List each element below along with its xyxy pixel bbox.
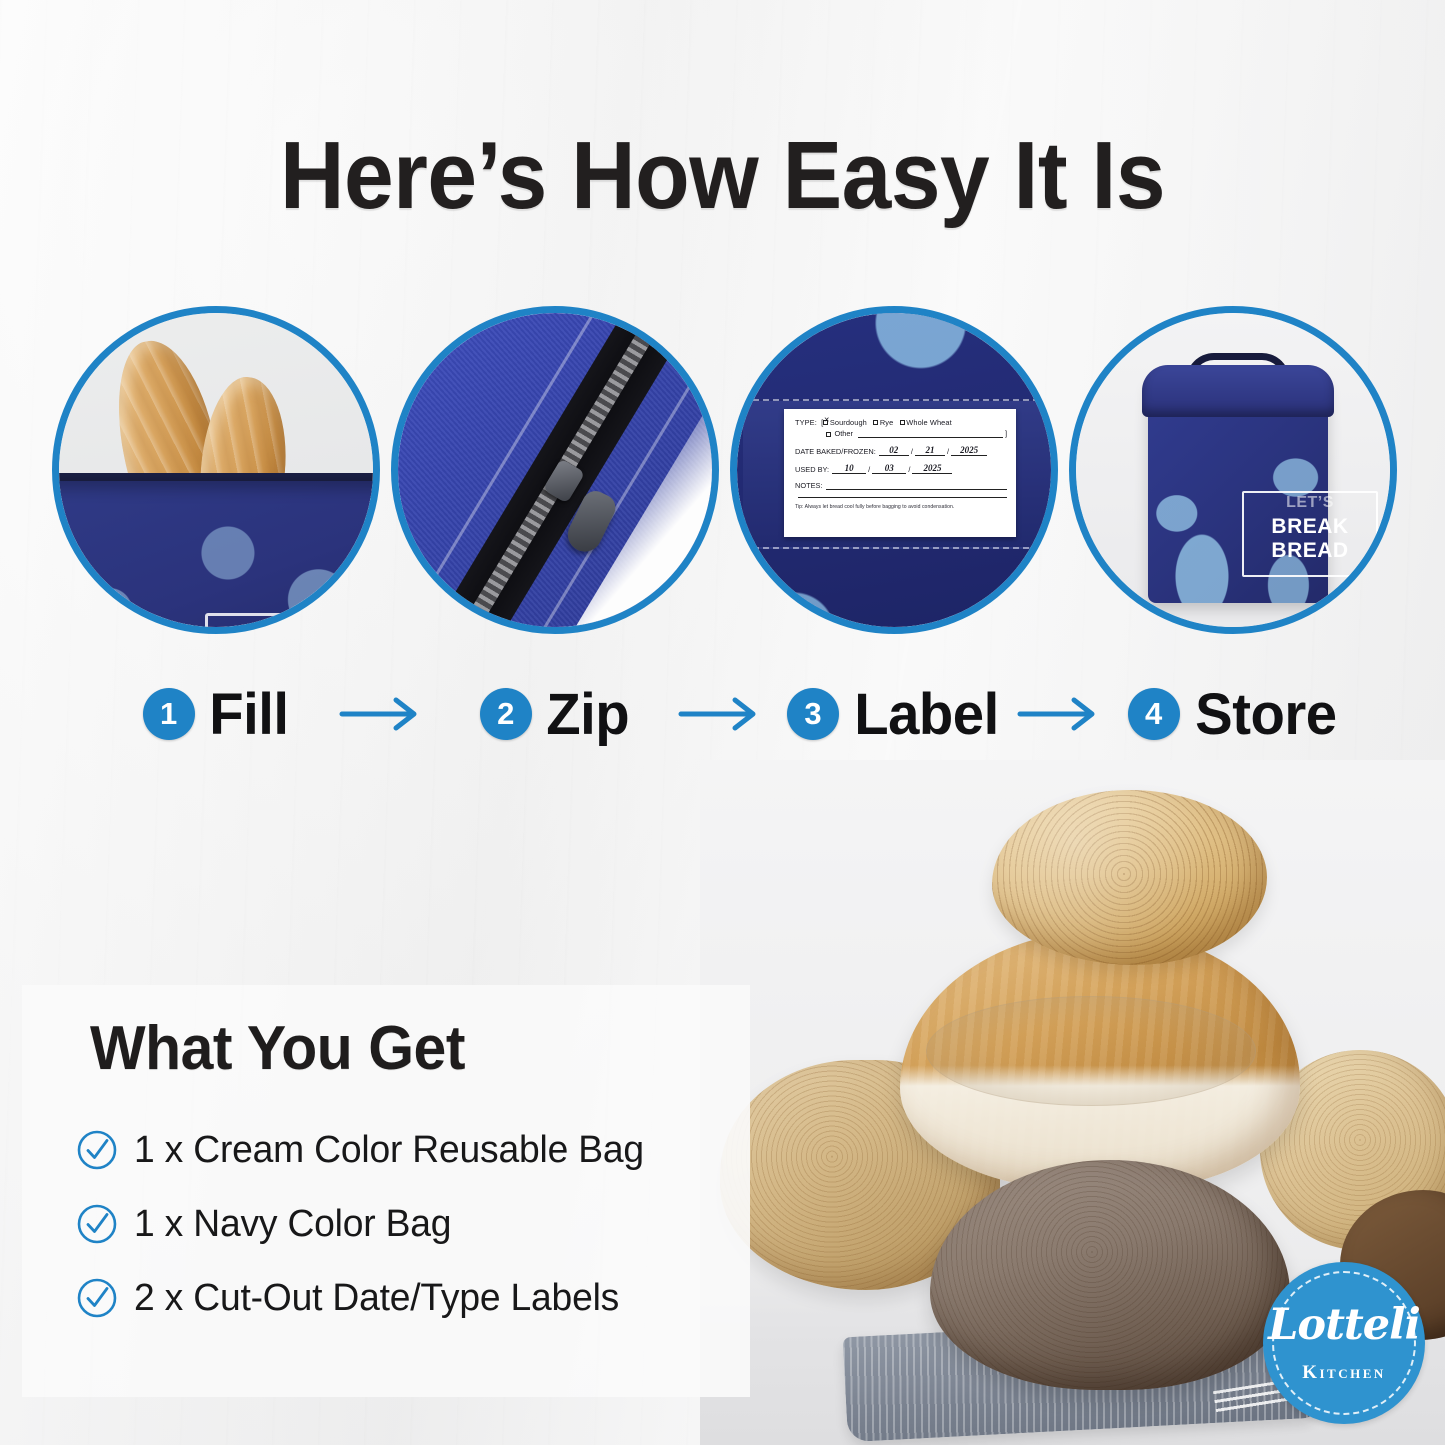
logo-brand-name: Lotteli — [1263, 1300, 1425, 1350]
step-word-zip: Zip — [546, 681, 629, 748]
notes-blank-line — [826, 489, 1007, 490]
list-item-label: 2 x Cut-Out Date/Type Labels — [134, 1277, 619, 1320]
list-item: 1 x Navy Color Bag — [76, 1187, 736, 1261]
loaf-sesame-roll — [992, 790, 1267, 965]
page-title: Here’s How Easy It Is — [51, 128, 1395, 224]
check-circle-icon — [76, 1203, 118, 1245]
used-by-year: 2025 — [912, 463, 952, 474]
list-item: 2 x Cut-Out Date/Type Labels — [76, 1261, 736, 1335]
bag-print-line1: LET’S — [1244, 494, 1376, 512]
step-label-store: 4 Store — [1069, 681, 1397, 748]
date-baked-month: 02 — [879, 445, 909, 456]
label-notes-row-2 — [795, 497, 1007, 498]
step-badge-3: 3 — [787, 688, 839, 740]
list-item-label: 1 x Navy Color Bag — [134, 1203, 451, 1246]
check-circle-icon — [76, 1129, 118, 1171]
other-blank-line — [858, 437, 1003, 438]
arrow-right-icon — [1058, 694, 1069, 734]
label-date-baked-row: DATE BAKED/FROZEN: 02 / 21 / 2025 — [795, 445, 1007, 456]
type-option-rye: Rye — [880, 418, 893, 427]
step-word-label: Label — [854, 681, 999, 748]
label-card-icon: TYPE: [Sourdough Rye Whole Wheat Other ]… — [737, 313, 1051, 627]
step-photo-zip — [391, 306, 719, 634]
type-option-sourdough: Sourdough — [830, 418, 867, 427]
notes-label: NOTES: — [795, 481, 823, 490]
step-photo-store: LET’S BREAK BREAD — [1069, 306, 1397, 634]
bag-rolled-top — [1142, 365, 1334, 417]
type-option-other: Other — [835, 429, 853, 438]
step-photo-fill — [52, 306, 380, 634]
bag-print-frame — [205, 613, 333, 627]
list-item-label: 1 x Cream Color Reusable Bag — [134, 1129, 644, 1172]
arrow-right-icon — [380, 694, 391, 734]
rolled-bag-icon: LET’S BREAK BREAD — [1076, 313, 1390, 627]
date-baked-day: 21 — [915, 445, 945, 456]
date-baked-year: 2025 — [951, 445, 987, 456]
label-tip-text: Tip: Always let bread cool fully before … — [795, 504, 1007, 510]
step-word-store: Store — [1195, 681, 1336, 748]
step-badge-1: 1 — [143, 688, 195, 740]
steps-label-row: 1 Fill 2 Zip 3 Label 4 Store — [52, 668, 1397, 760]
logo-subtitle: Kitchen — [1263, 1362, 1425, 1384]
step-label-zip: 2 Zip — [391, 681, 719, 748]
label-notes-row: NOTES: — [795, 481, 1007, 490]
checkbox-whole-wheat — [900, 420, 905, 425]
label-used-by-row: USED BY: 10 / 03 / 2025 — [795, 463, 1007, 474]
label-type-row: TYPE: [Sourdough Rye Whole Wheat — [795, 418, 1007, 428]
check-circle-icon — [76, 1277, 118, 1319]
arrow-right-icon — [719, 694, 730, 734]
steps-photo-row: TYPE: [Sourdough Rye Whole Wheat Other ]… — [52, 306, 1397, 636]
brand-logo: Lotteli Kitchen — [1263, 1262, 1425, 1424]
used-by-day: 03 — [872, 463, 906, 474]
what-you-get-heading: What You Get — [90, 1013, 465, 1084]
zipper-closeup-icon — [398, 313, 712, 627]
bag-print-frame: LET’S BREAK BREAD — [1242, 491, 1378, 577]
bread-label-card: TYPE: [Sourdough Rye Whole Wheat Other ]… — [784, 409, 1016, 537]
type-option-whole-wheat: Whole Wheat — [906, 418, 951, 427]
used-by-label: USED BY: — [795, 465, 829, 474]
step-word-fill: Fill — [209, 681, 288, 748]
bread-bag-filled-icon — [59, 313, 373, 627]
used-by-month: 10 — [832, 463, 866, 474]
notes-blank-line-2 — [798, 497, 1007, 498]
infographic-page: Here’s How Easy It Is — [0, 0, 1445, 1445]
bag-print-line3: BREAD — [1244, 539, 1376, 563]
label-type-prefix: TYPE: — [795, 418, 817, 427]
list-item: 1 x Cream Color Reusable Bag — [76, 1113, 736, 1187]
step-photo-label: TYPE: [Sourdough Rye Whole Wheat Other ]… — [730, 306, 1058, 634]
label-type-other-row: Other ] — [795, 429, 1007, 438]
step-badge-2: 2 — [480, 688, 532, 740]
navy-bread-bag — [59, 481, 373, 627]
step-label-fill: 1 Fill — [52, 681, 380, 748]
what-you-get-panel: What You Get 1 x Cream Color Reusable Ba… — [22, 985, 750, 1397]
checkbox-rye — [873, 420, 878, 425]
step-badge-4: 4 — [1128, 688, 1180, 740]
step-label-label: 3 Label — [730, 681, 1058, 748]
checkbox-other — [826, 432, 831, 437]
checkbox-sourdough — [823, 420, 828, 425]
what-you-get-list: 1 x Cream Color Reusable Bag 1 x Navy Co… — [76, 1113, 736, 1335]
date-baked-label: DATE BAKED/FROZEN: — [795, 447, 876, 456]
bag-print-line2: BREAK — [1244, 515, 1376, 539]
